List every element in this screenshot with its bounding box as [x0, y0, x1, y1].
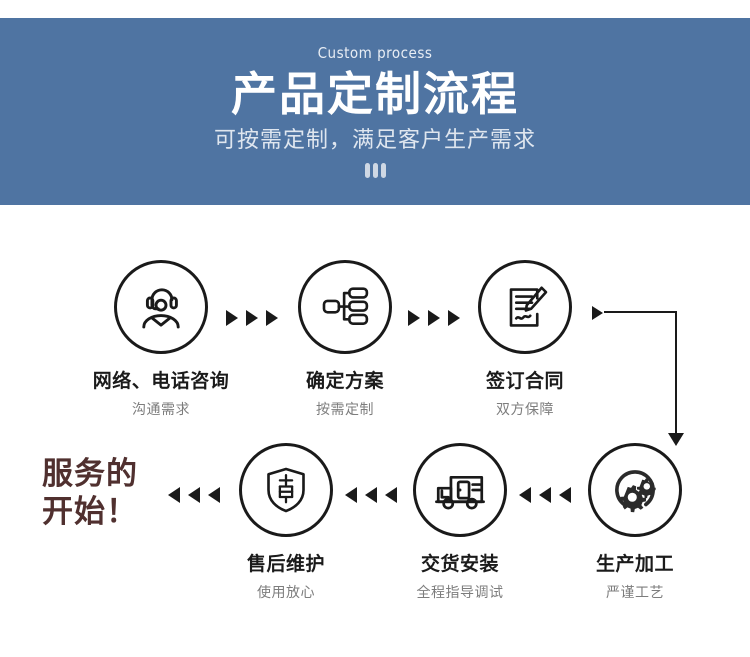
gears-production-icon [588, 443, 682, 537]
shield-after-sales-icon [239, 443, 333, 537]
triangle-left-icon [365, 487, 377, 503]
callout-line-1: 服务的 [42, 455, 138, 493]
flow-step-title: 交货安装 [385, 549, 535, 576]
flow-step-subtitle: 按需定制 [270, 399, 420, 419]
flow-step-subtitle: 使用放心 [211, 582, 361, 602]
page-title: 产品定制流程 [231, 66, 519, 122]
flow-step-delivery[interactable]: 交货安装 全程指导调试 [385, 443, 535, 602]
triangle-right-icon [408, 310, 420, 326]
service-start-callout: 服务的 开始！ [42, 455, 138, 531]
triangle-left-icon [345, 487, 357, 503]
flow-step-subtitle: 双方保障 [450, 399, 600, 419]
contract-signing-icon [478, 260, 572, 354]
triangle-right-icon [246, 310, 258, 326]
flow-step-production[interactable]: 生产加工 严谨工艺 [560, 443, 710, 602]
flow-step-title: 生产加工 [560, 549, 710, 576]
flow-step-after-sales[interactable]: 售后维护 使用放心 [211, 443, 361, 602]
flow-step-consultation[interactable]: 网络、电话咨询 沟通需求 [86, 260, 236, 419]
divider-dot [381, 163, 386, 178]
flow-step-title: 签订合同 [450, 366, 600, 393]
banner-subtitle: 可按需定制，满足客户生产需求 [214, 126, 536, 154]
flow-step-title: 确定方案 [270, 366, 420, 393]
triangle-left-icon [519, 487, 531, 503]
triangle-left-icon [539, 487, 551, 503]
callout-line-2: 开始！ [42, 493, 138, 531]
triangle-right-icon [226, 310, 238, 326]
divider-dot [373, 163, 378, 178]
connector-horizontal-line [604, 311, 676, 313]
org-chart-icon [298, 260, 392, 354]
flow-step-subtitle: 严谨工艺 [560, 582, 710, 602]
banner-divider-dots [365, 163, 386, 178]
elbow-connector-arrow [592, 303, 692, 453]
triangle-left-icon [188, 487, 200, 503]
page-banner: Custom process 产品定制流程 可按需定制，满足客户生产需求 [0, 18, 750, 205]
process-flow-diagram: 网络、电话咨询 沟通需求 确定方案 按需定制 [0, 205, 750, 657]
flow-step-title: 售后维护 [211, 549, 361, 576]
flow-step-title: 网络、电话咨询 [86, 366, 236, 393]
flow-step-subtitle: 沟通需求 [86, 399, 236, 419]
triangle-left-icon [168, 487, 180, 503]
triangle-right-icon [428, 310, 440, 326]
headset-operator-icon [114, 260, 208, 354]
divider-dot [365, 163, 370, 178]
triangle-right-icon [592, 306, 603, 320]
flow-step-contract[interactable]: 签订合同 双方保障 [450, 260, 600, 419]
banner-eyebrow: Custom process [318, 44, 433, 62]
flow-step-subtitle: 全程指导调试 [385, 582, 535, 602]
delivery-truck-icon [413, 443, 507, 537]
flow-step-plan[interactable]: 确定方案 按需定制 [270, 260, 420, 419]
connector-vertical-line [675, 311, 677, 439]
